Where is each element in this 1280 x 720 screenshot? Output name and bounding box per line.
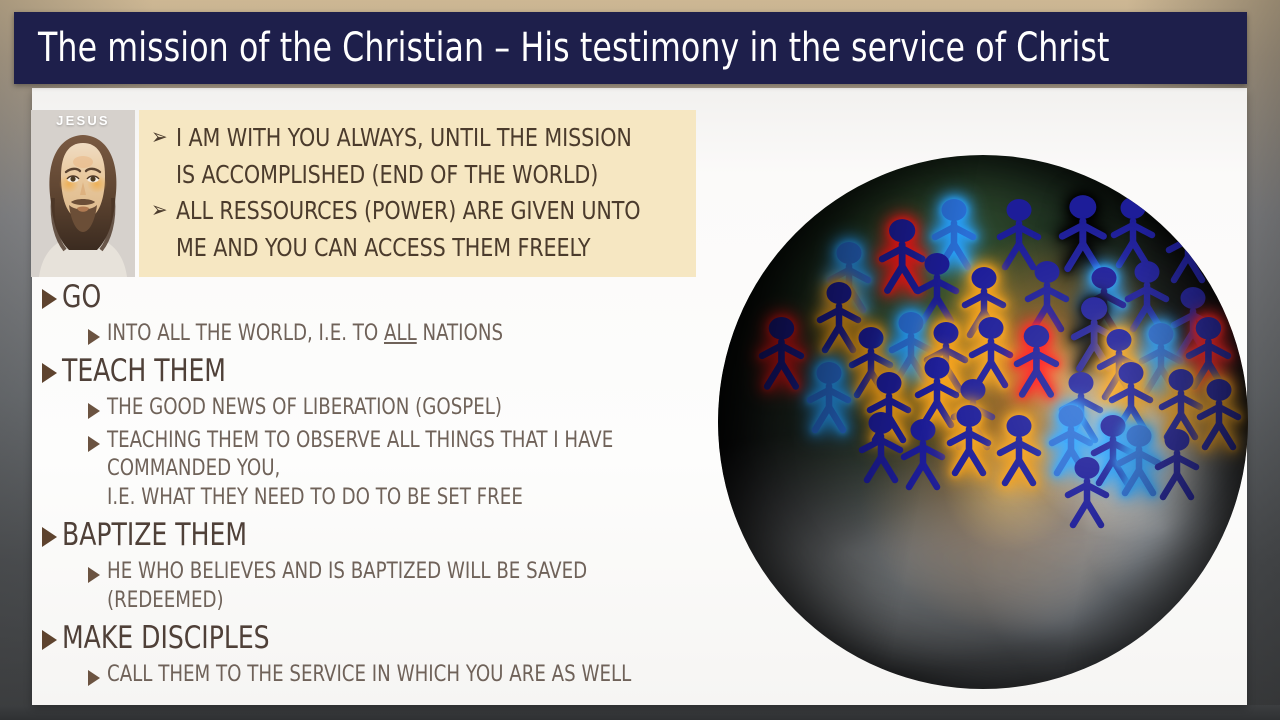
earth-sphere bbox=[718, 155, 1248, 689]
triangle-bullet-icon bbox=[88, 670, 100, 686]
jesus-label: Jesus bbox=[31, 113, 135, 128]
outline-item-level1: TEACH THEM bbox=[42, 352, 742, 392]
outline-item-level2: CALL THEM TO THE SERVICE IN WHICH YOU AR… bbox=[88, 661, 742, 690]
stick-figure bbox=[758, 315, 805, 390]
stick-figure bbox=[1024, 259, 1070, 333]
outline-level2-label: CALL THEM TO THE SERVICE IN WHICH YOU AR… bbox=[107, 661, 631, 690]
outline-level2-label: INTO ALL THE WORLD, I.E. TO ALL NATIONS bbox=[107, 320, 503, 349]
jesus-portrait-card: Jesus bbox=[31, 110, 135, 277]
outline-level1-label: GO bbox=[62, 278, 101, 318]
outline-item-level2: TEACHING THEM TO OBSERVE ALL THINGS THAT… bbox=[88, 427, 742, 513]
globe-illustration bbox=[718, 155, 1248, 689]
triangle-bullet-icon bbox=[88, 329, 100, 345]
stick-figure bbox=[806, 360, 852, 434]
triangle-bullet-icon bbox=[42, 363, 57, 383]
slide-bottom-edge bbox=[0, 705, 1280, 720]
triangle-bullet-icon bbox=[88, 567, 100, 583]
page-title: The mission of the Christian – His testi… bbox=[38, 28, 1110, 68]
stick-figure bbox=[996, 413, 1042, 487]
outline-level2-label: TEACHING THEM TO OBSERVE ALL THINGS THAT… bbox=[107, 427, 613, 513]
arrow-bullet-icon: ➢ bbox=[151, 193, 168, 228]
emphasis-underline: ALL bbox=[384, 321, 417, 346]
stick-figure bbox=[1064, 455, 1110, 529]
arrow-bullet-icon: ➢ bbox=[151, 120, 168, 155]
jesus-face-icon bbox=[31, 110, 135, 277]
stick-figure bbox=[946, 403, 992, 477]
stick-figure bbox=[1013, 323, 1060, 398]
outline-item-level1: BAPTIZE THEM bbox=[42, 516, 742, 556]
outline-list: GOINTO ALL THE WORLD, I.E. TO ALL NATION… bbox=[42, 276, 742, 693]
jesus-quote-box: ➢ I AM WITH YOU ALWAYS, UNTIL THE MISSIO… bbox=[139, 110, 696, 277]
quote-line: ➢ ALL RESSOURCES (POWER) ARE GIVEN UNTO … bbox=[151, 193, 682, 266]
stick-figure bbox=[1196, 377, 1242, 451]
stick-figure bbox=[900, 417, 946, 491]
stick-figure bbox=[1154, 427, 1200, 501]
outline-item-level2: INTO ALL THE WORLD, I.E. TO ALL NATIONS bbox=[88, 320, 742, 349]
triangle-bullet-icon bbox=[42, 527, 57, 547]
outline-level2-label: HE WHO BELIEVES AND IS BAPTIZED WILL BE … bbox=[107, 558, 691, 615]
outline-level2-label: THE GOOD NEWS OF LIBERATION (GOSPEL) bbox=[107, 394, 502, 423]
outline-item-level2: HE WHO BELIEVES AND IS BAPTIZED WILL BE … bbox=[88, 558, 742, 615]
stick-figure bbox=[1165, 210, 1211, 284]
outline-level1-label: BAPTIZE THEM bbox=[62, 516, 247, 556]
outline-item-level1: GO bbox=[42, 278, 742, 318]
outline-level1-label: MAKE DISCIPLES bbox=[62, 619, 270, 659]
triangle-bullet-icon bbox=[42, 289, 57, 309]
quote-text: I AM WITH YOU ALWAYS, UNTIL THE MISSION … bbox=[176, 120, 642, 193]
quote-text: ALL RESSOURCES (POWER) ARE GIVEN UNTO ME… bbox=[176, 193, 642, 266]
stick-figure bbox=[1110, 195, 1156, 269]
outline-level1-label: TEACH THEM bbox=[62, 352, 226, 392]
triangle-bullet-icon bbox=[88, 436, 100, 452]
quote-line: ➢ I AM WITH YOU ALWAYS, UNTIL THE MISSIO… bbox=[151, 120, 682, 193]
slide-title-bar: The mission of the Christian – His testi… bbox=[14, 12, 1247, 84]
slide-root: The mission of the Christian – His testi… bbox=[0, 0, 1280, 720]
triangle-bullet-icon bbox=[42, 630, 57, 650]
triangle-bullet-icon bbox=[88, 403, 100, 419]
stick-figure bbox=[858, 410, 904, 484]
outline-item-level2: THE GOOD NEWS OF LIBERATION (GOSPEL) bbox=[88, 394, 742, 423]
outline-item-level1: MAKE DISCIPLES bbox=[42, 619, 742, 659]
